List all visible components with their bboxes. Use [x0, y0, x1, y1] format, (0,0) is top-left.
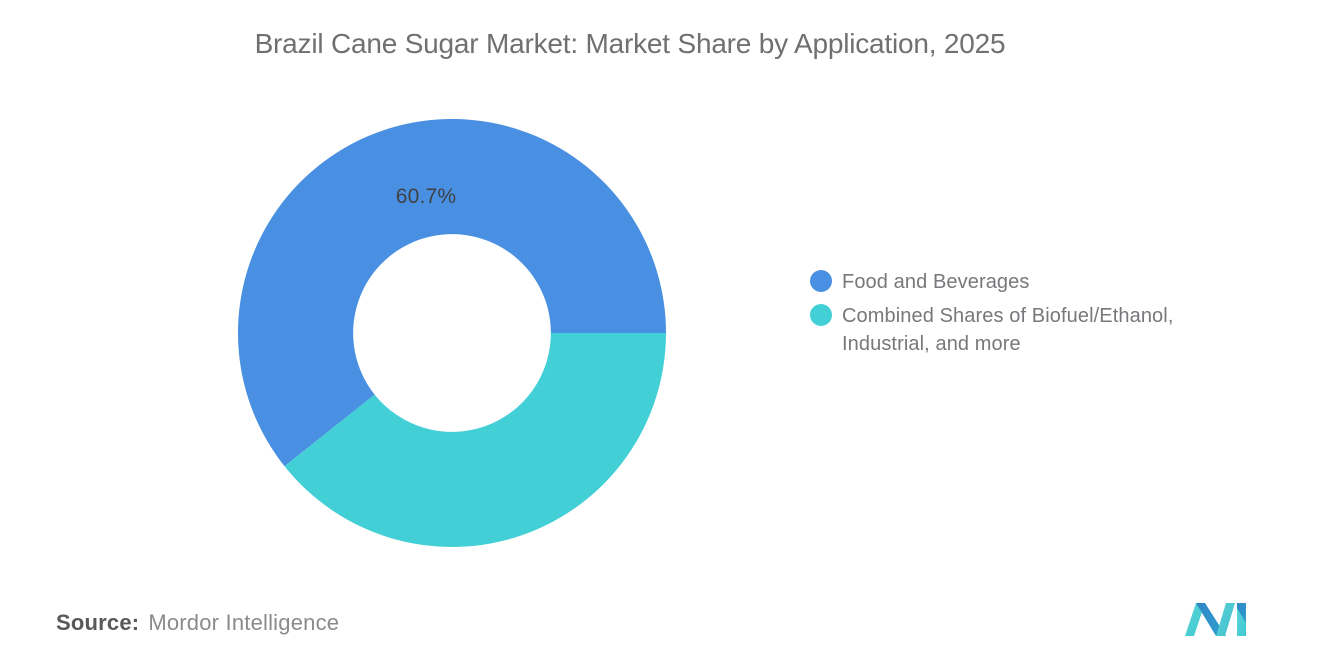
- mordor-intelligence-logo-icon: [1182, 596, 1254, 638]
- legend-swatch-icon-combined-shares: [810, 304, 832, 326]
- legend-item-combined-shares[interactable]: Combined Shares of Biofuel/Ethanol, Indu…: [810, 302, 1280, 358]
- legend-label-combined-shares: Combined Shares of Biofuel/Ethanol, Indu…: [842, 302, 1227, 358]
- legend-swatch-icon-food-and-beverages: [810, 270, 832, 292]
- source-line: Source: Mordor Intelligence: [56, 610, 339, 636]
- donut-slices: [238, 119, 666, 547]
- legend-item-food-and-beverages[interactable]: Food and Beverages: [810, 268, 1280, 296]
- slice-data-label-food-and-beverages: 60.7%: [366, 185, 486, 209]
- chart-title: Brazil Cane Sugar Market: Market Share b…: [0, 28, 1320, 60]
- source-label: Source:: [56, 610, 139, 636]
- donut-chart-svg: [238, 119, 666, 547]
- chart-legend: Food and Beverages Combined Shares of Bi…: [810, 268, 1280, 364]
- legend-label-food-and-beverages: Food and Beverages: [842, 268, 1029, 296]
- donut-chart: 60.7%: [238, 119, 666, 547]
- source-value: Mordor Intelligence: [148, 610, 339, 636]
